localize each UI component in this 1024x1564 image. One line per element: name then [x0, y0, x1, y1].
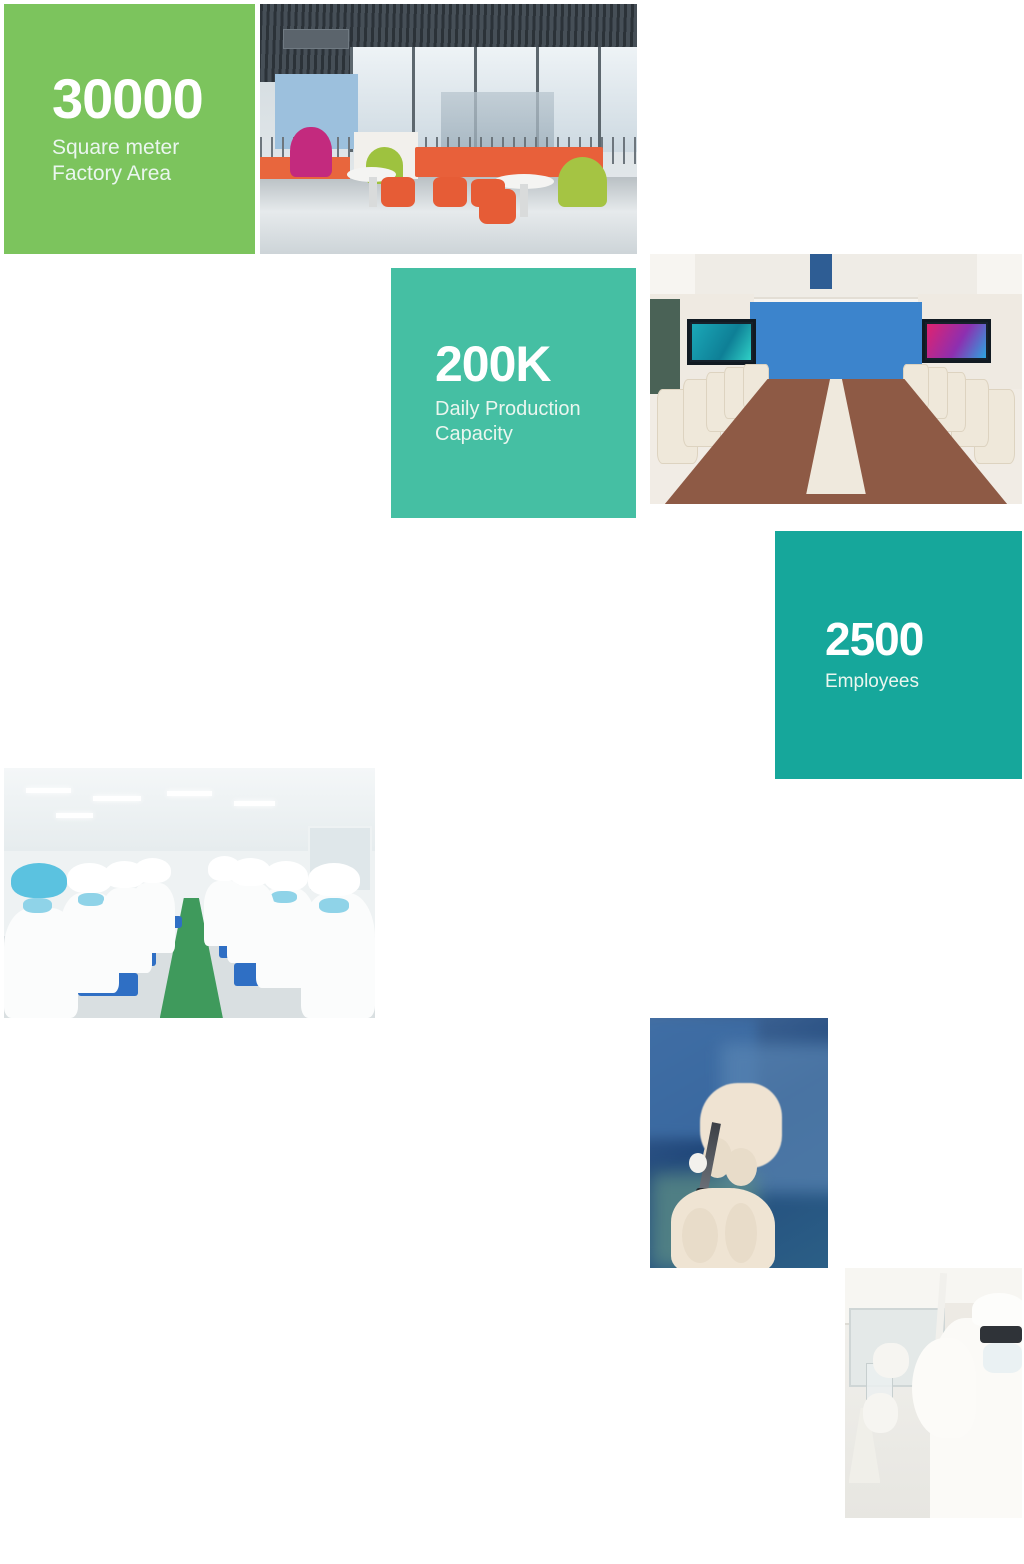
lounge-stool-1 [381, 177, 415, 207]
conference-display-left [687, 319, 756, 365]
stat-number-factory-area: 30000 [52, 71, 255, 127]
lounge-stool-2 [433, 177, 467, 207]
lounge-ceiling-vent [283, 29, 349, 49]
lab-technician-arm [912, 1338, 976, 1438]
photo-laboratory [845, 1268, 1022, 1518]
conference-door [650, 299, 680, 394]
assembly-worker-coat [204, 881, 245, 946]
assembly-worker-mask [319, 898, 349, 913]
stat-number-employees: 2500 [825, 616, 1022, 662]
assembly-ceiling-light [93, 796, 141, 801]
stat-caption-line1: Square meter [52, 135, 255, 161]
assembly-ceiling-light [234, 801, 275, 806]
tweezers-finger [725, 1148, 757, 1186]
lab-safety-glasses [980, 1326, 1022, 1344]
stat-caption-line1: Daily Production [435, 397, 636, 422]
lounge-chair-green-right [558, 157, 607, 207]
assembly-worker-mask [23, 898, 53, 913]
stat-number-daily-production: 200K [435, 339, 636, 389]
photo-office-lounge [260, 4, 637, 254]
assembly-worker-coat [130, 883, 175, 953]
lab-glove [863, 1393, 898, 1433]
assembly-worker-cap [134, 858, 171, 883]
lounge-stool-4 [479, 189, 517, 224]
stat-caption-line2: Capacity [435, 422, 636, 447]
lounge-table-left-leg [369, 177, 377, 207]
stat-caption-line2: Factory Area [52, 161, 255, 187]
tweezers-finger [725, 1203, 757, 1263]
photo-tweezers-closeup [650, 1018, 828, 1268]
assembly-worker-cap [208, 856, 241, 881]
stat-caption-line1: Employees [825, 670, 1022, 694]
photo-collage: 30000 Square meter Factory Area [0, 0, 1024, 782]
assembly-worker-mask [271, 891, 297, 904]
assembly-worker-cap-blue [11, 863, 67, 898]
conference-blue-wall [750, 302, 921, 382]
stat-tile-daily-production: 200K Daily Production Capacity [391, 268, 636, 518]
lounge-chair-magenta [290, 127, 331, 177]
assembly-ceiling-light [56, 813, 93, 818]
stat-tile-employees: 2500 Employees [775, 531, 1022, 779]
photo-assembly-line [4, 768, 375, 1018]
photo-conference-room [650, 254, 1022, 504]
conference-display-right [922, 319, 991, 363]
stat-caption-factory-area: Square meter Factory Area [52, 135, 255, 188]
assembly-worker-mask [78, 893, 104, 906]
assembly-worker-cap [308, 863, 360, 896]
stat-caption-employees: Employees [825, 670, 1022, 694]
lab-technician-cap [972, 1293, 1022, 1326]
lounge-table-right-leg [520, 184, 528, 217]
assembly-ceiling-light [26, 788, 71, 793]
conference-ceiling-recess [695, 254, 978, 299]
lab-glove [873, 1343, 908, 1378]
lab-face-mask [983, 1343, 1022, 1373]
tweezers-white-part [689, 1153, 707, 1173]
conference-projector [810, 254, 832, 289]
assembly-ceiling-light [167, 791, 212, 796]
stat-tile-factory-area: 30000 Square meter Factory Area [4, 4, 255, 254]
stat-caption-daily-production: Daily Production Capacity [435, 397, 636, 447]
tweezers-finger [682, 1208, 718, 1263]
